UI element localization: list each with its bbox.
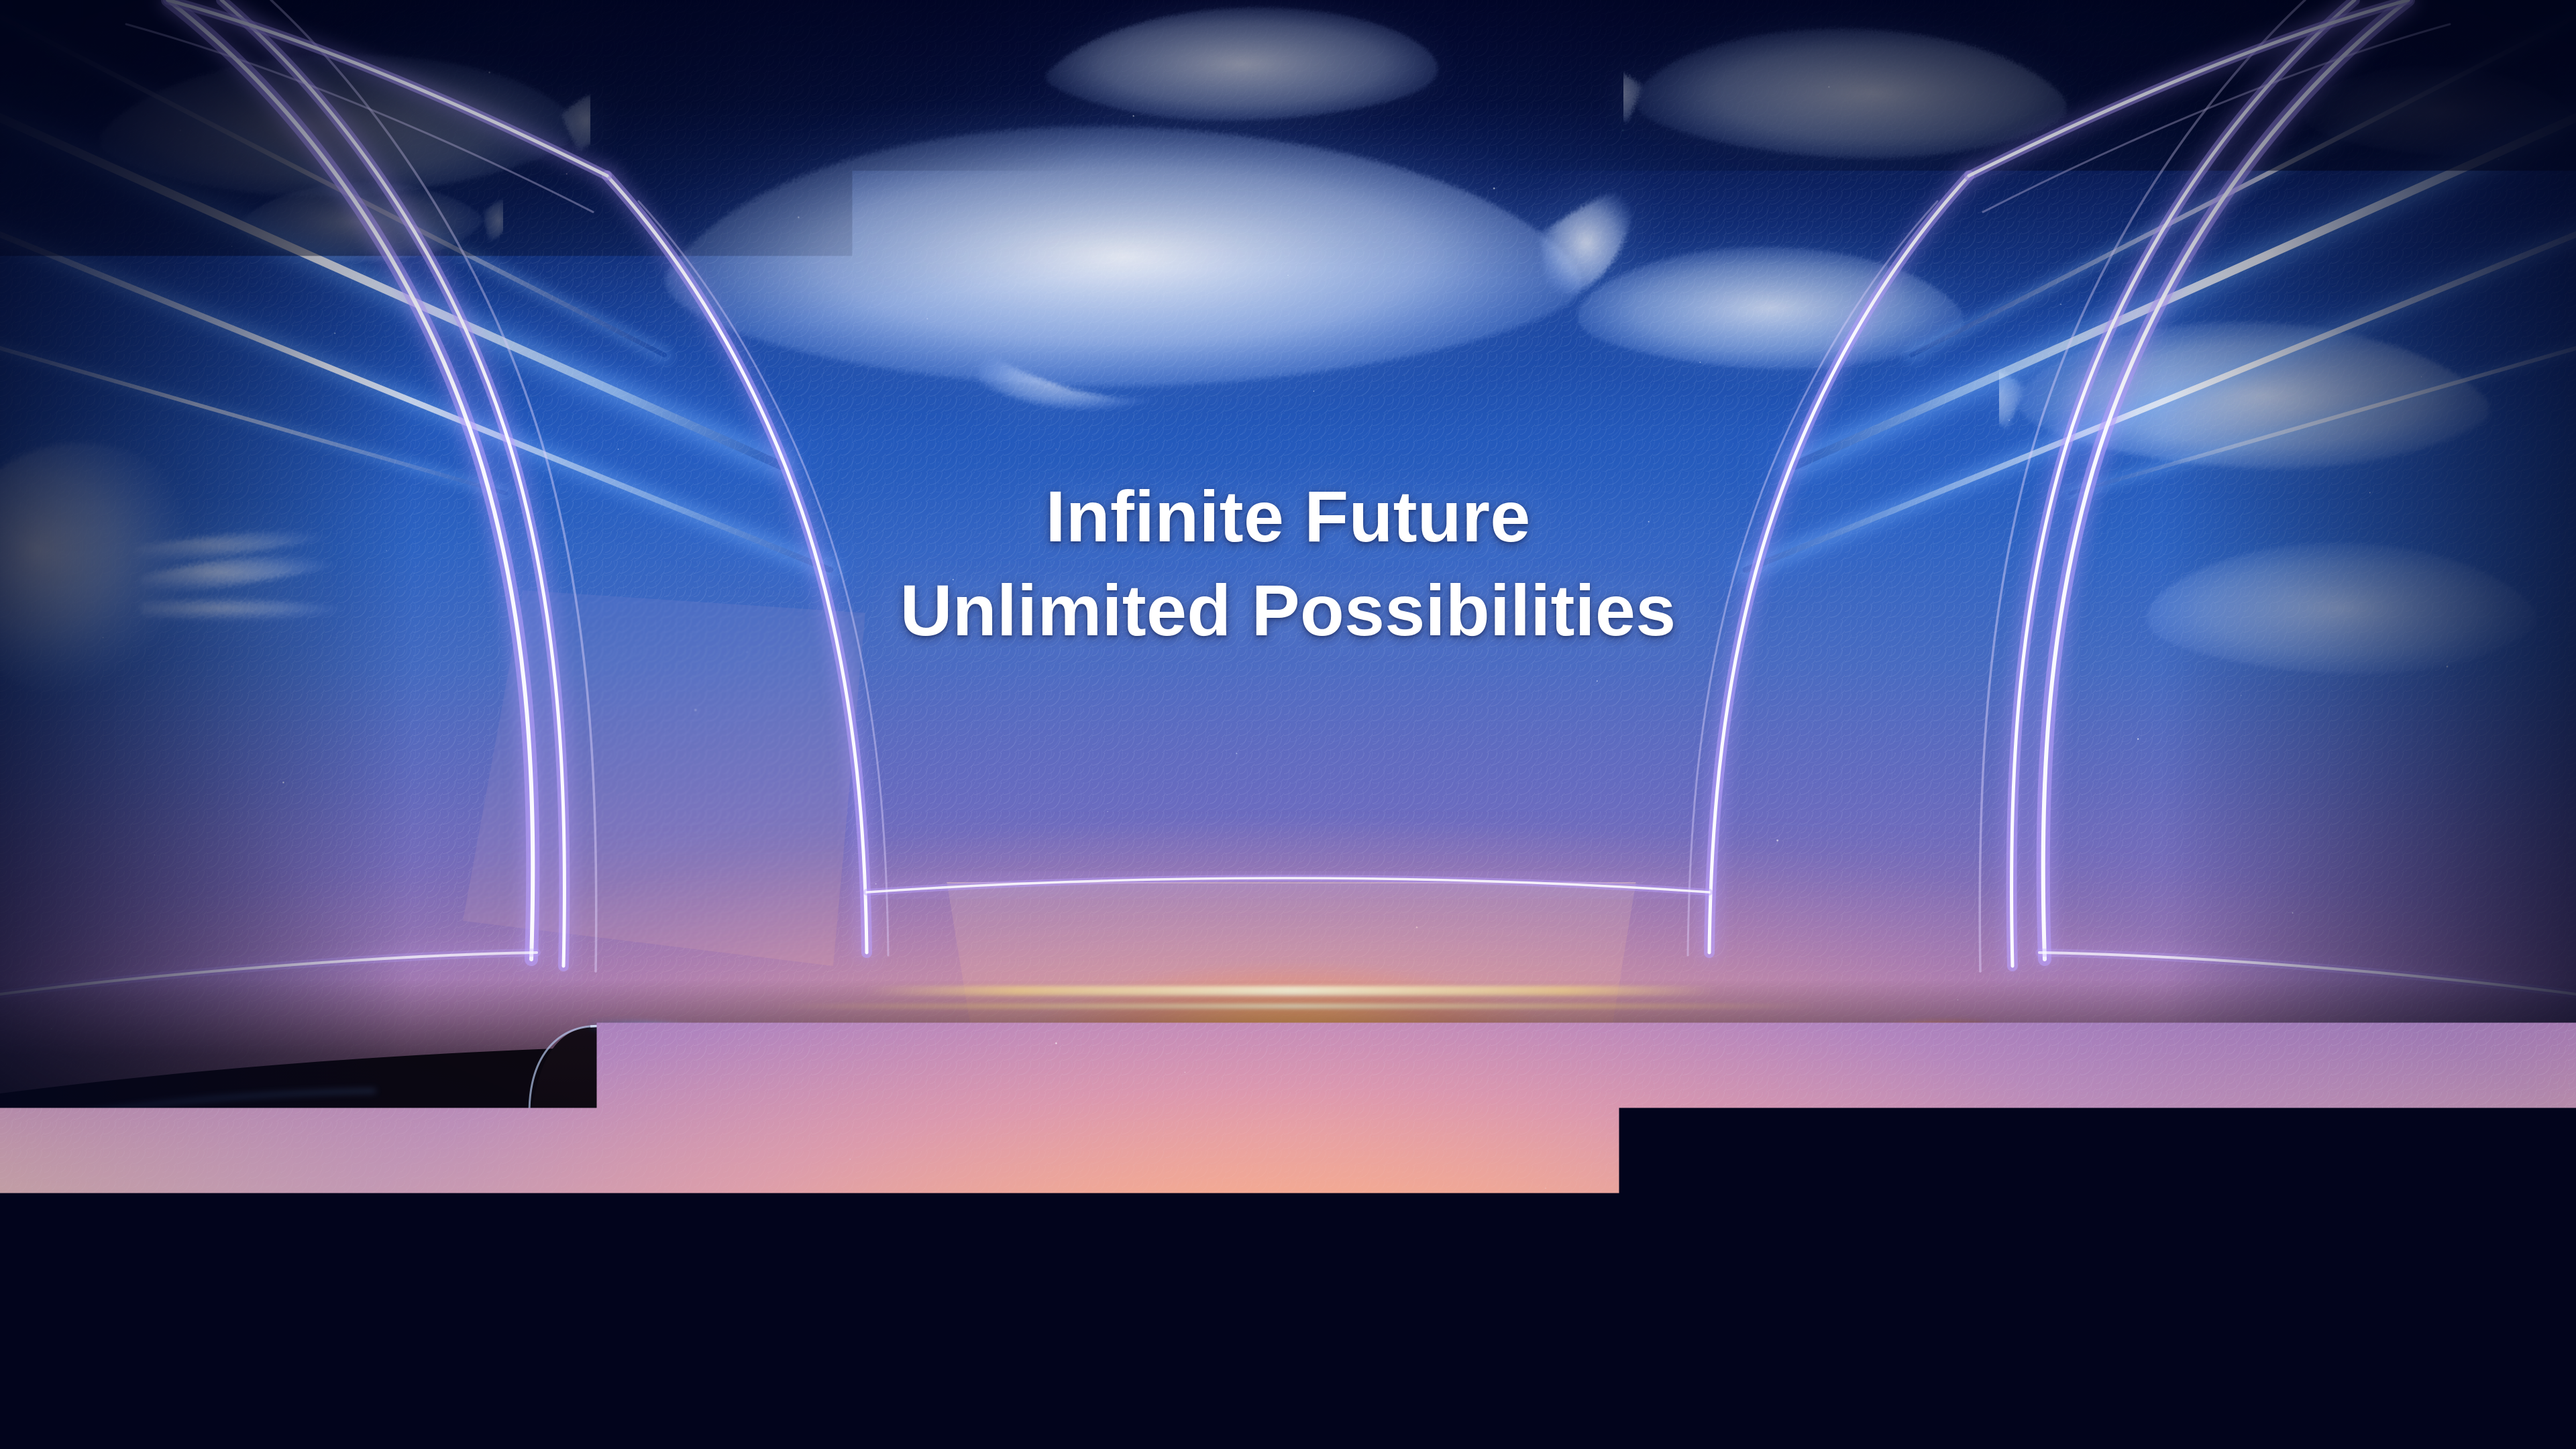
ces-trademark: ™ xyxy=(1545,1034,1554,1049)
auo-logo xyxy=(1022,1025,1244,1100)
logo-divider xyxy=(1285,1030,1288,1095)
key-visual-stage: Infinite Future Unlimited Possibilities xyxy=(0,0,2576,1449)
logo-lockup: ™ xyxy=(0,1025,2576,1100)
vignette-overlay xyxy=(0,0,2576,1449)
ces-logo: ™ xyxy=(1330,1029,1553,1096)
